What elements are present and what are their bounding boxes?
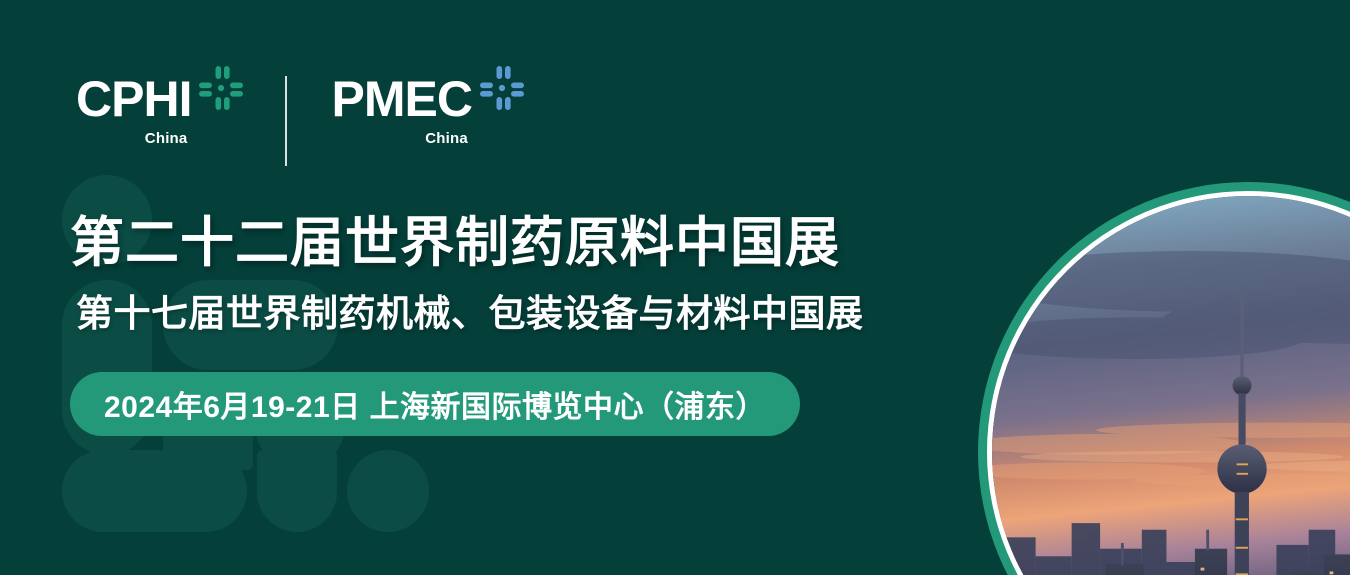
logo-cphi-region: China [76, 130, 245, 147]
shanghai-skyline-image [992, 196, 1350, 575]
photo-outer-ring [978, 182, 1350, 575]
logo-pmec-region: China [331, 130, 525, 147]
decor-circle-bottom [347, 450, 429, 532]
logo-pmec-text: PMEC [331, 72, 471, 126]
flower-dots-icon [197, 64, 245, 112]
photo-inner-ring [987, 191, 1350, 575]
decor-square-bottom [257, 450, 337, 532]
flower-dots-icon [478, 64, 526, 112]
event-banner: CPHI [0, 0, 1350, 575]
logo-divider [285, 76, 287, 166]
event-date-venue-badge: 2024年6月19-21日 上海新国际博览中心（浦东） [70, 372, 800, 436]
logo-pmec[interactable]: PMEC [331, 72, 525, 147]
logo-cphi[interactable]: CPHI [76, 72, 245, 147]
page-title: 第二十二届世界制药原料中国展 [70, 212, 840, 274]
page-subtitle: 第十七届世界制药机械、包装设备与材料中国展 [76, 291, 864, 337]
logo-cphi-word: CPHI [76, 72, 245, 126]
decor-rounded-rect-bottom [62, 450, 247, 532]
logo-pmec-word: PMEC [331, 72, 525, 126]
logo-lockup: CPHI [76, 72, 526, 166]
logo-cphi-text: CPHI [76, 72, 191, 126]
